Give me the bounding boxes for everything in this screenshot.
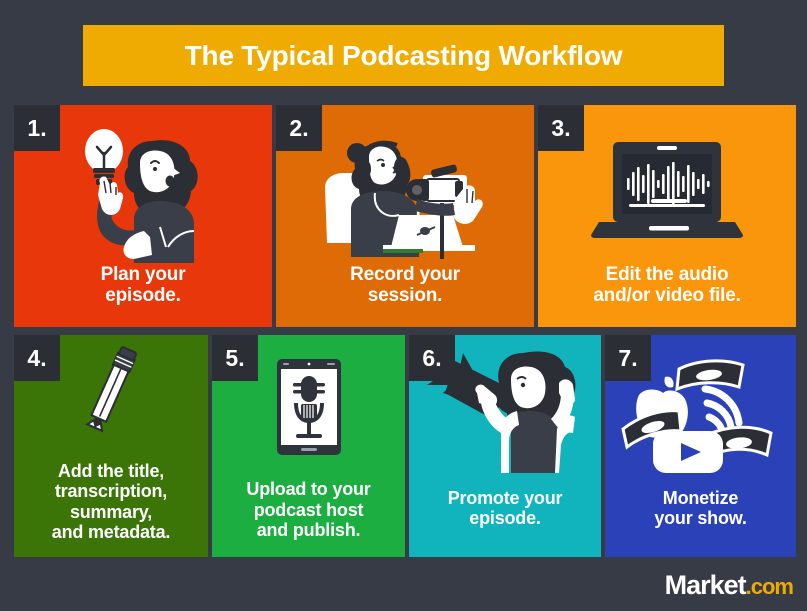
step-caption-5: Upload to your podcast host and publish. (218, 479, 399, 541)
step-number-badge-6: 6. (409, 335, 455, 381)
brand-logo[interactable]: Market .com (665, 572, 793, 599)
caption-line: your show. (611, 508, 790, 529)
rss-waves-icon (705, 389, 739, 431)
step-caption-3: Edit the audio and/or video file. (544, 264, 790, 307)
step-panel-2[interactable]: 2. (276, 105, 534, 327)
caption-line: episode. (415, 508, 595, 529)
money-bill (677, 361, 743, 389)
step-number-badge-5: 5. (212, 335, 258, 381)
youtube-play-icon (653, 431, 723, 473)
infographic-root: The Typical Podcasting Workflow 1. (0, 0, 807, 611)
step-panel-5[interactable]: 5. (212, 335, 405, 557)
title-banner: The Typical Podcasting Workflow (83, 25, 724, 86)
step-number-badge-1: 1. (14, 105, 60, 151)
step-panel-4[interactable]: 4. (14, 335, 208, 557)
brand-suffix: .com (746, 576, 793, 598)
caption-line: summary, (20, 502, 202, 523)
caption-line: Plan your (20, 264, 266, 286)
step-caption-7: Monetize your show. (611, 488, 790, 529)
step-panel-1[interactable]: 1. (14, 105, 272, 327)
caption-line: session. (282, 285, 528, 307)
step-number-badge-3: 3. (538, 105, 584, 151)
caption-line: Promote your (415, 488, 595, 509)
caption-line: and publish. (218, 520, 399, 541)
step-caption-2: Record your session. (282, 264, 528, 307)
step-number-badge-2: 2. (276, 105, 322, 151)
step-panel-6[interactable]: 6. (409, 335, 601, 557)
caption-line: Edit the audio (544, 264, 790, 286)
caption-line: and metadata. (20, 522, 202, 543)
step-caption-6: Promote your episode. (415, 488, 595, 529)
step-caption-1: Plan your episode. (20, 264, 266, 307)
step-number-badge-4: 4. (14, 335, 60, 381)
step-panel-3[interactable]: 3. (538, 105, 796, 327)
page-title: The Typical Podcasting Workflow (185, 42, 623, 70)
step-number-badge-7: 7. (605, 335, 651, 381)
caption-line: podcast host (218, 500, 399, 521)
caption-line: transcription, (20, 481, 202, 502)
caption-line: Add the title, (20, 461, 202, 482)
brand-name: Market (665, 572, 746, 599)
caption-line: Monetize (611, 488, 790, 509)
step-caption-4: Add the title, transcription, summary, a… (20, 461, 202, 543)
step-panel-7[interactable]: 7. (605, 335, 796, 557)
caption-line: episode. (20, 285, 266, 307)
caption-line: Record your (282, 264, 528, 286)
caption-line: Upload to your (218, 479, 399, 500)
caption-line: and/or video file. (544, 285, 790, 307)
